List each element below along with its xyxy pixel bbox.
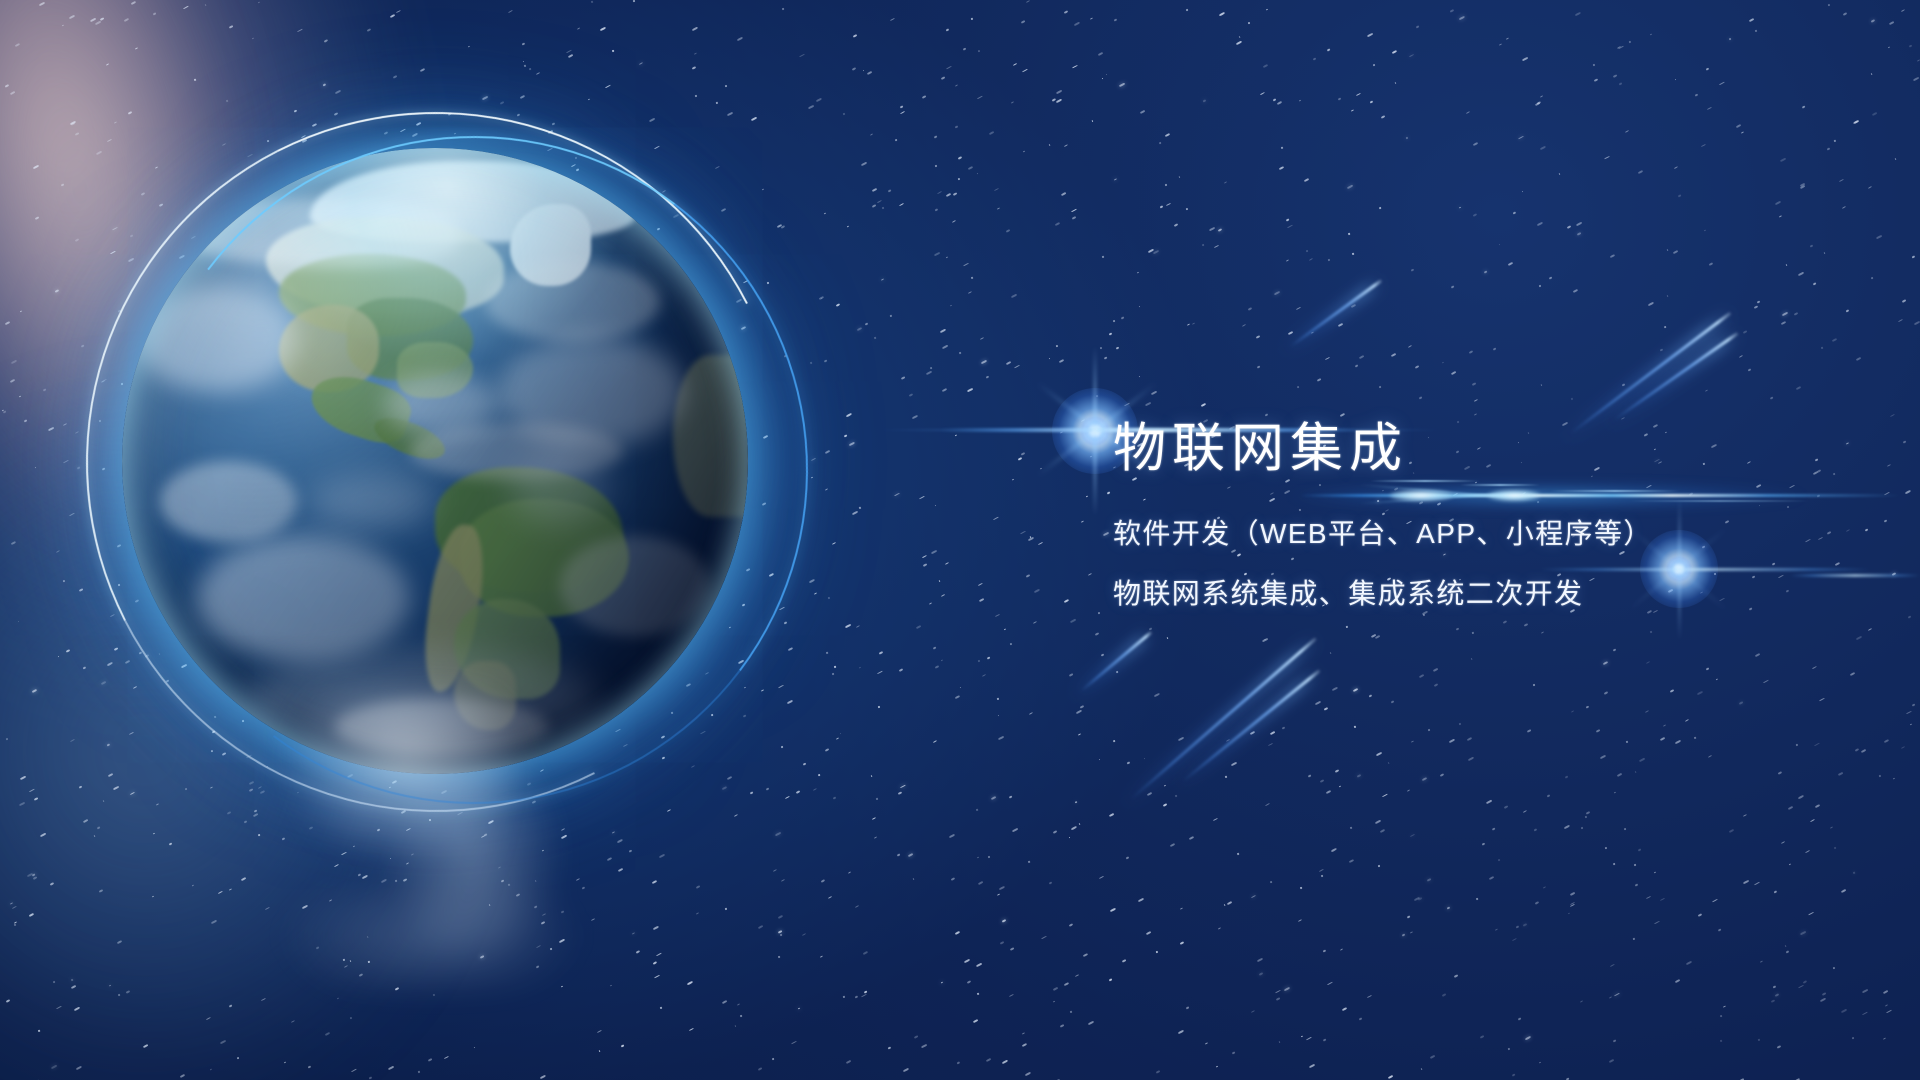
- star: [79, 785, 83, 788]
- star: [988, 856, 991, 859]
- star: [1090, 455, 1093, 457]
- star: [1472, 382, 1477, 386]
- star: [1317, 379, 1321, 382]
- star: [890, 18, 895, 21]
- star: [1513, 212, 1517, 215]
- star: [1068, 837, 1070, 838]
- star: [1693, 737, 1695, 739]
- star: [1778, 772, 1782, 776]
- star: [1473, 142, 1478, 146]
- star: [1187, 323, 1191, 326]
- star: [1608, 1059, 1613, 1063]
- star: [1703, 229, 1705, 231]
- star: [1794, 313, 1798, 316]
- star: [877, 671, 883, 675]
- star: [998, 736, 1004, 740]
- star: [591, 1, 593, 3]
- star: [1381, 115, 1385, 118]
- star: [1166, 203, 1171, 206]
- star: [955, 84, 958, 86]
- star: [1257, 957, 1263, 961]
- star: [1709, 262, 1714, 266]
- star: [1273, 98, 1276, 101]
- star: [1667, 249, 1669, 251]
- star: [1628, 41, 1631, 44]
- star: [1144, 757, 1146, 759]
- star: [1674, 740, 1680, 745]
- star: [1706, 667, 1709, 670]
- star: [1741, 131, 1744, 134]
- star: [775, 832, 781, 836]
- star: [1185, 208, 1188, 211]
- star: [1906, 711, 1912, 715]
- star: [689, 1028, 694, 1031]
- star: [1055, 222, 1061, 226]
- star: [1328, 258, 1331, 261]
- star: [803, 762, 807, 765]
- star: [523, 64, 525, 66]
- star: [751, 117, 757, 121]
- star: [1802, 106, 1806, 109]
- star: [1446, 907, 1450, 910]
- star: [1489, 876, 1494, 880]
- star: [1159, 141, 1162, 143]
- star: [1749, 17, 1755, 21]
- star: [978, 660, 981, 663]
- star: [1450, 285, 1453, 288]
- star: [976, 809, 978, 811]
- star: [1605, 847, 1608, 850]
- star: [761, 189, 763, 191]
- star: [1063, 982, 1069, 987]
- star: [941, 982, 943, 984]
- star: [946, 193, 951, 197]
- star: [1410, 931, 1413, 933]
- star: [932, 740, 936, 743]
- star: [855, 625, 859, 628]
- star: [1127, 762, 1130, 765]
- star: [977, 583, 982, 586]
- star: [61, 183, 64, 186]
- star: [529, 67, 532, 69]
- star: [1580, 1000, 1583, 1002]
- star: [1068, 673, 1072, 676]
- star: [297, 28, 303, 32]
- star: [1259, 972, 1263, 976]
- star: [912, 878, 914, 880]
- star: [780, 934, 782, 936]
- star: [1635, 771, 1637, 773]
- star: [1122, 959, 1126, 962]
- star: [1570, 710, 1573, 712]
- star: [876, 798, 878, 800]
- star: [1851, 1036, 1854, 1039]
- star: [934, 665, 938, 669]
- star: [900, 111, 905, 114]
- star: [1339, 786, 1341, 788]
- star: [130, 792, 135, 795]
- star: [1098, 52, 1103, 56]
- star: [1367, 995, 1372, 998]
- star: [1853, 872, 1855, 874]
- star: [1248, 21, 1251, 24]
- star: [220, 1040, 226, 1044]
- star: [855, 996, 859, 999]
- star: [1883, 1037, 1887, 1040]
- star: [10, 903, 13, 905]
- star: [218, 891, 223, 894]
- star: [930, 366, 933, 369]
- star: [1808, 912, 1814, 916]
- star: [1466, 111, 1470, 114]
- star: [1612, 74, 1617, 78]
- star: [11, 541, 17, 546]
- star: [1458, 722, 1461, 725]
- star: [862, 69, 864, 71]
- star: [396, 9, 401, 13]
- star: [522, 43, 526, 46]
- star: [1481, 843, 1485, 847]
- star: [1180, 907, 1184, 910]
- star: [1009, 643, 1012, 646]
- star: [781, 879, 785, 882]
- star: [258, 1, 260, 3]
- star: [1546, 794, 1549, 797]
- star: [1020, 20, 1024, 23]
- star: [819, 296, 824, 300]
- page-title: 物联网集成: [1113, 418, 1873, 481]
- star: [1888, 47, 1890, 49]
- star: [1270, 731, 1275, 735]
- star: [781, 745, 784, 748]
- star: [1574, 12, 1580, 17]
- star: [1833, 847, 1836, 849]
- star: [982, 674, 986, 677]
- star: [1604, 691, 1609, 695]
- star: [24, 420, 27, 423]
- star: [957, 157, 961, 161]
- star: [1070, 1010, 1072, 1012]
- star: [1419, 396, 1422, 399]
- star: [1334, 769, 1339, 773]
- star: [1101, 654, 1105, 657]
- star: [153, 13, 156, 16]
- star: [1052, 987, 1057, 991]
- star: [1139, 306, 1141, 308]
- star: [1613, 648, 1617, 651]
- star: [308, 1065, 312, 1068]
- star: [795, 790, 800, 794]
- star: [18, 620, 20, 622]
- star: [1798, 271, 1804, 275]
- star: [901, 376, 905, 379]
- star: [749, 791, 752, 794]
- star: [1568, 912, 1570, 914]
- star: [1653, 872, 1655, 874]
- star: [1910, 724, 1912, 726]
- star: [1180, 941, 1185, 945]
- star: [113, 785, 119, 789]
- star: [229, 25, 233, 28]
- star: [1298, 100, 1301, 102]
- star: [1567, 225, 1572, 229]
- star: [820, 879, 824, 883]
- star: [5, 321, 11, 325]
- star: [955, 435, 957, 437]
- star: [887, 189, 890, 192]
- star: [1407, 916, 1410, 919]
- star: [20, 776, 26, 780]
- star: [33, 876, 38, 880]
- star: [955, 695, 961, 700]
- star: [1106, 491, 1109, 494]
- star: [1430, 1055, 1435, 1059]
- star: [350, 1017, 353, 1020]
- star: [981, 359, 987, 364]
- star: [815, 98, 821, 103]
- star: [1388, 762, 1390, 764]
- star: [1324, 708, 1328, 711]
- star: [1505, 37, 1509, 40]
- star: [1522, 191, 1524, 193]
- star: [1798, 985, 1804, 989]
- star: [1014, 364, 1020, 368]
- star: [1409, 53, 1414, 56]
- star: [1415, 365, 1419, 368]
- star: [1347, 185, 1353, 189]
- star: [1109, 813, 1114, 817]
- star: [653, 961, 657, 965]
- banner-copy: 物联网集成 软件开发（WEB平台、APP、小程序等） 物联网系统集成、集成系统二…: [1113, 418, 1873, 622]
- star: [654, 975, 660, 979]
- star: [968, 291, 972, 294]
- star: [1055, 345, 1058, 348]
- star: [1072, 65, 1078, 69]
- star: [813, 788, 817, 791]
- star: [1543, 887, 1546, 889]
- star: [169, 842, 173, 845]
- star: [1499, 43, 1502, 46]
- star: [1367, 32, 1373, 36]
- star: [1298, 919, 1302, 922]
- star: [862, 951, 867, 955]
- star: [1369, 695, 1372, 698]
- star: [194, 78, 196, 80]
- star: [1327, 981, 1332, 985]
- star: [1006, 361, 1012, 365]
- star: [1861, 749, 1866, 753]
- star: [959, 352, 962, 354]
- star: [934, 164, 937, 167]
- star: [1319, 869, 1324, 872]
- star: [1163, 785, 1166, 787]
- star: [1876, 234, 1882, 238]
- star: [1654, 921, 1660, 925]
- star: [1524, 1036, 1531, 1041]
- star: [1830, 826, 1833, 829]
- star: [1810, 244, 1814, 247]
- star: [1224, 182, 1227, 184]
- star: [1071, 216, 1075, 219]
- star: [433, 994, 436, 997]
- star: [1406, 136, 1409, 139]
- star: [1277, 101, 1282, 105]
- star: [1474, 413, 1477, 415]
- star: [1382, 794, 1388, 798]
- star: [1781, 312, 1787, 316]
- star: [993, 517, 998, 521]
- star: [291, 1020, 295, 1023]
- star: [1469, 350, 1474, 354]
- star: [1748, 369, 1751, 372]
- star: [834, 666, 836, 668]
- star: [1604, 155, 1610, 159]
- star: [1419, 674, 1425, 678]
- star: [1800, 930, 1806, 934]
- star: [1416, 26, 1419, 29]
- star: [1026, 0, 1030, 3]
- star: [667, 809, 671, 812]
- star: [967, 388, 973, 392]
- star: [390, 14, 395, 18]
- star: [1251, 895, 1256, 899]
- star: [1102, 78, 1104, 80]
- star: [824, 749, 828, 752]
- star: [1060, 1024, 1064, 1027]
- star: [895, 138, 898, 141]
- star: [97, 826, 100, 829]
- star: [1082, 953, 1088, 957]
- star: [1498, 244, 1500, 246]
- star: [997, 698, 999, 701]
- star: [1285, 259, 1288, 261]
- star: [843, 996, 845, 999]
- star: [1358, 354, 1364, 358]
- star: [1074, 21, 1080, 25]
- star: [1508, 1048, 1511, 1051]
- star: [118, 994, 121, 996]
- star: [1646, 896, 1651, 899]
- star: [1832, 967, 1835, 970]
- star: [900, 785, 906, 789]
- star: [1838, 772, 1843, 776]
- star: [889, 315, 891, 318]
- star: [1146, 931, 1151, 935]
- star: [864, 322, 868, 325]
- star: [210, 786, 214, 789]
- star: [1527, 729, 1531, 732]
- star: [1033, 589, 1039, 594]
- star: [1268, 743, 1273, 746]
- star: [51, 1065, 57, 1069]
- star: [1609, 253, 1615, 258]
- star: [909, 393, 914, 397]
- star: [1523, 810, 1527, 813]
- star: [1076, 710, 1082, 714]
- star: [1407, 790, 1410, 793]
- star: [852, 67, 856, 71]
- star: [1612, 1039, 1615, 1042]
- star: [997, 207, 1000, 210]
- star: [1265, 803, 1270, 806]
- star: [851, 510, 857, 514]
- star: [31, 689, 36, 693]
- star: [1614, 791, 1617, 793]
- star: [252, 38, 254, 40]
- star: [1338, 98, 1342, 101]
- star: [1774, 891, 1777, 894]
- star: [428, 1059, 432, 1062]
- star: [828, 597, 831, 600]
- star: [1474, 399, 1478, 402]
- star: [1394, 82, 1396, 84]
- star: [954, 931, 959, 935]
- star: [1648, 302, 1654, 307]
- star: [1174, 795, 1176, 797]
- star: [599, 1049, 601, 1051]
- star: [1802, 980, 1806, 984]
- star: [1052, 830, 1057, 834]
- star: [870, 133, 873, 136]
- star: [597, 1030, 602, 1033]
- star: [1235, 41, 1241, 45]
- star: [844, 435, 847, 438]
- star: [1011, 102, 1014, 104]
- star: [1013, 63, 1017, 66]
- star: [1151, 391, 1157, 395]
- star: [1619, 82, 1622, 85]
- star: [1306, 250, 1309, 253]
- star: [1820, 997, 1826, 1001]
- star: [1610, 964, 1615, 967]
- star: [722, 999, 727, 1003]
- star: [1204, 1042, 1207, 1044]
- star: [1895, 158, 1897, 160]
- star: [131, 1, 136, 5]
- star: [1549, 277, 1553, 280]
- star: [1279, 166, 1285, 170]
- star: [156, 803, 159, 806]
- star: [1257, 366, 1261, 369]
- star: [1265, 413, 1268, 416]
- star: [1755, 29, 1757, 31]
- star: [649, 118, 655, 122]
- star: [1352, 253, 1354, 255]
- star: [1473, 214, 1478, 218]
- star: [1715, 679, 1717, 681]
- star: [1392, 50, 1397, 54]
- star: [1088, 573, 1092, 576]
- star: [1594, 78, 1599, 82]
- star: [1907, 616, 1911, 619]
- star: [1826, 148, 1830, 151]
- star: [874, 836, 877, 838]
- star: [787, 700, 793, 705]
- star: [1170, 843, 1176, 847]
- star: [70, 978, 72, 980]
- star: [1116, 670, 1119, 672]
- star: [1038, 542, 1043, 545]
- star: [935, 505, 937, 507]
- star: [1824, 252, 1826, 254]
- star: [1841, 889, 1846, 893]
- star: [1472, 632, 1474, 635]
- star: [1833, 140, 1836, 143]
- star: [1821, 992, 1825, 995]
- star: [1202, 244, 1205, 247]
- star: [949, 833, 955, 838]
- star: [1033, 621, 1037, 624]
